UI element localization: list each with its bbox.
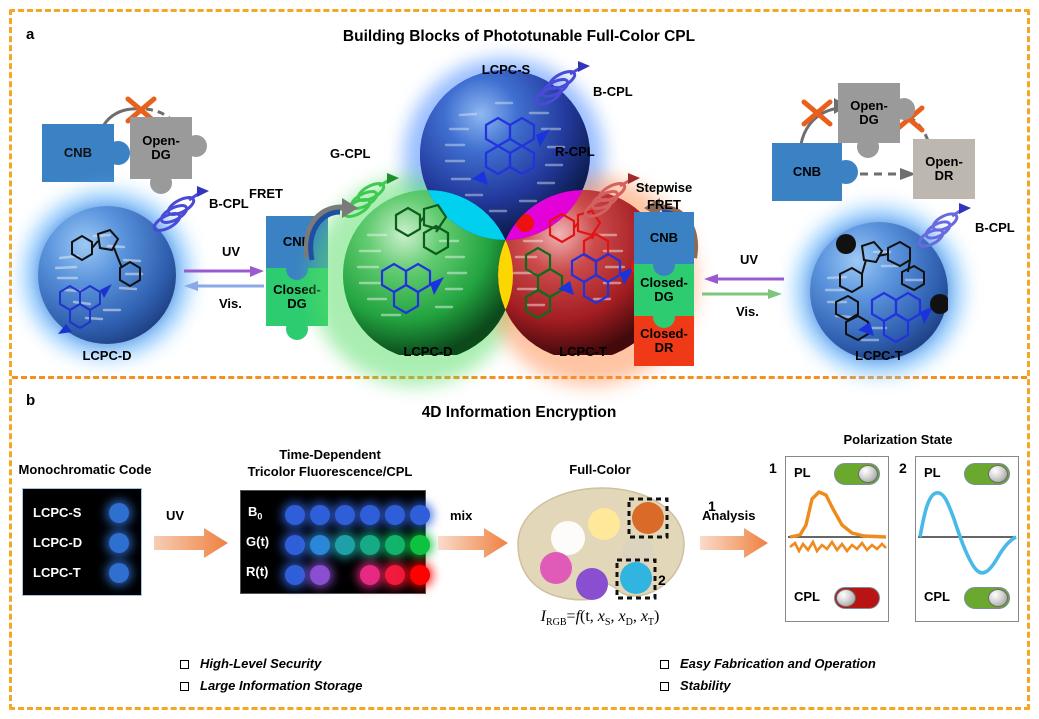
tricolor-heading-1: Time-Dependent [279,447,381,462]
center-blue-sphere-label: LCPC-S [482,62,530,77]
pol2-spectrum [916,485,1018,597]
left-open-dg-label-1: Open- [142,134,180,148]
tricolor-row-label-0: B0 [248,504,262,522]
right-open-dg-knob-right [893,98,915,120]
arrow3-label: Analysis [702,508,755,523]
mono-dot-2 [109,563,129,583]
arrow1-label: UV [166,508,184,523]
right-bcpl-helix-icon [913,196,979,254]
stepwise-dg-label-2: DG [654,290,674,304]
bullet-box-l0 [180,660,189,669]
stepwise-knob-2 [653,306,675,328]
bullet-box-l1 [180,682,189,691]
tricolor-row-label-2: R(t) [246,564,268,579]
pol2-cpl-toggle[interactable] [964,587,1010,609]
tricolor-dot [385,505,405,525]
center-rcpl-label: R-CPL [555,144,595,159]
pol1-spectrum [786,485,888,585]
tricolor-dot [285,535,305,555]
right-cnb-to-dr-arrow [858,165,920,183]
mono-row-label-0: LCPC-S [33,505,81,520]
right-vis-label: Vis. [736,304,759,319]
right-cnb-knob [834,160,858,184]
panel-a-title: Building Blocks of Phototunable Full-Col… [343,28,695,46]
right-open-dr-label-2: DR [935,169,954,183]
stepwise-dr-label-1: Closed- [640,327,688,341]
left-cnb-label: CNB [64,146,92,160]
left-uv-label: UV [222,244,240,259]
center-green-sphere-label: LCPC-D [403,344,452,359]
fullcolor-heading: Full-Color [569,462,630,477]
mono-row-label-2: LCPC-T [33,565,81,580]
right-open-dr-puzzle: Open- DR [913,139,975,199]
polarization-heading: Polarization State [843,432,952,447]
left-bcpl-label: B-CPL [209,196,249,211]
stepwise-cnb-label: CNB [650,231,678,245]
tricolor-dot [360,535,380,555]
center-gcpl-label: G-CPL [330,146,370,161]
arrow2-mix [438,528,510,560]
bullet-box-r1 [660,682,669,691]
figure-root: a Building Blocks of Phototunable Full-C… [0,0,1039,719]
right-open-dr-label-1: Open- [925,155,963,169]
rgb-formula: IRGB=f(t, xS, xD, xT) [541,608,660,628]
arrow2-label: mix [450,508,472,523]
formula-sub: RGB [546,617,567,628]
bullet-box-r0 [660,660,669,669]
tricolor-dot [335,505,355,525]
tricolor-dot [310,565,330,585]
tricolor-dot [360,505,380,525]
tricolor-row-label-1: G(t) [246,534,269,549]
tricolor-dot [410,505,430,525]
pol2-pl-label: PL [924,465,941,480]
tricolor-heading-2: Tricolor Fluorescence/CPL [248,464,413,479]
stepwise-dr-label-2: DR [655,341,674,355]
tricolor-dot [310,535,330,555]
tricolor-dot [385,535,405,555]
pol1-pl-label: PL [794,465,811,480]
arrow3-analysis [700,528,770,560]
tricolor-box: B0 G(t) R(t) [240,490,426,594]
tricolor-dot [335,565,355,585]
left-bcpl-helix-icon [145,182,215,242]
mono-row-label-1: LCPC-D [33,535,82,550]
left-sphere-label: LCPC-D [82,348,131,363]
mono-code-box: LCPC-S LCPC-D LCPC-T [22,488,142,596]
feature-left-1: Large Information Storage [200,678,363,693]
right-bcpl-label: B-CPL [975,220,1015,235]
left-cnb-knob [106,141,130,165]
pol-panel-1: PL CPL [785,456,889,622]
stepwise-dg-label-1: Closed- [640,276,688,290]
pol1-pl-toggle[interactable] [834,463,880,485]
feature-right-0: Easy Fabrication and Operation [680,656,876,671]
center-bcpl-helix-icon [528,58,598,114]
panel-b-letter: b [26,392,35,409]
right-open-dg-puzzle: Open- DG [838,83,900,143]
right-uv-label: UV [740,252,758,267]
right-open-dg-knob-bottom [857,136,879,158]
tricolor-dot [285,565,305,585]
pol-panel-2: PL CPL [915,456,1019,622]
tricolor-dot [310,505,330,525]
right-open-dg-label-1: Open- [850,99,888,113]
feature-left-0: High-Level Security [200,656,321,671]
pol1-cpl-label: CPL [794,589,820,604]
center-red-sphere-label: LCPC-T [559,344,607,359]
stepwise-knob-1 [653,254,675,276]
tricolor-dot [360,565,380,585]
palette-marker-2: 2 [658,572,666,588]
stepwise-label-1: Stepwise [636,180,692,195]
tricolor-dot [410,535,430,555]
left-vis-label: Vis. [219,296,242,311]
panel-a-letter: a [26,26,34,43]
tricolor-dot [410,565,430,585]
mono-dot-1 [109,533,129,553]
center-left-fret-arrow [300,196,360,266]
left-uv-vis-arrows [182,264,266,298]
right-cnb-label: CNB [793,165,821,179]
panel-divider [12,376,1027,379]
tricolor-dot [385,565,405,585]
pol2-cpl-label: CPL [924,589,950,604]
mono-code-heading: Monochromatic Code [19,462,152,477]
panel-b-title: 4D Information Encryption [422,404,617,422]
mono-dot-0 [109,503,129,523]
feature-right-1: Stability [680,678,731,693]
left-fret-label: FRET [249,186,283,201]
pol-panel-1-index: 1 [769,460,777,476]
left-open-dg-knob-right [185,135,207,157]
right-uv-vis-arrows [700,272,786,306]
pol1-cpl-toggle[interactable] [834,587,880,609]
stepwise-label-2: FRET [647,197,681,212]
left-open-dg-label-2: DG [151,148,171,162]
tricolor-dot [335,535,355,555]
right-open-dg-label-2: DG [859,113,879,127]
right-sphere-label: LCPC-T [855,348,903,363]
right-cnb-puzzle: CNB [772,143,842,201]
left-open-dg-puzzle: Open- DG [130,117,192,179]
left-cnb-puzzle: CNB [42,124,114,182]
arrow1-uv [154,528,230,560]
center-bcpl-label: B-CPL [593,84,633,99]
pol-panel-2-index: 2 [899,460,907,476]
tricolor-dot [285,505,305,525]
pol2-pl-toggle[interactable] [964,463,1010,485]
